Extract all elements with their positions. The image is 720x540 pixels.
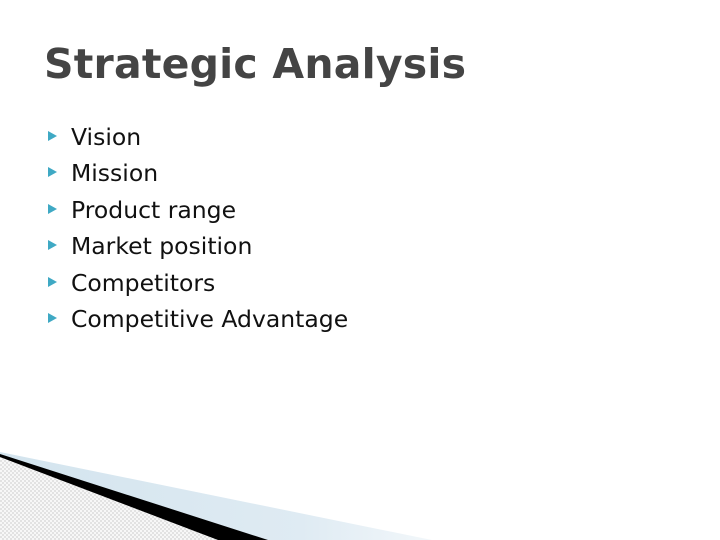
list-item-label: Vision — [71, 122, 648, 153]
list-item-label: Competitive Advantage — [71, 304, 648, 335]
triangle-right-bullet-icon — [48, 304, 71, 323]
list-item-label: Market position — [71, 231, 648, 262]
triangle-right-bullet-icon — [48, 122, 71, 141]
black-sliver — [0, 454, 268, 540]
list-item: Market position — [48, 231, 648, 267]
list-item: Mission — [48, 158, 648, 194]
triangle-right-bullet-icon — [48, 268, 71, 287]
list-item-label: Competitors — [71, 268, 648, 299]
triangle-right-bullet-icon — [48, 195, 71, 214]
page-title: Strategic Analysis — [44, 42, 466, 86]
slide-canvas: Strategic Analysis Vision Mission Produc… — [0, 0, 720, 540]
bullet-list: Vision Mission Product range Market posi… — [48, 122, 648, 340]
list-item: Competitive Advantage — [48, 304, 648, 340]
list-item-label: Product range — [71, 195, 648, 226]
list-item: Product range — [48, 195, 648, 231]
triangle-right-bullet-icon — [48, 231, 71, 250]
list-item-label: Mission — [71, 158, 648, 189]
textured-gray-wedge — [0, 457, 218, 540]
triangle-right-bullet-icon — [48, 158, 71, 177]
list-item: Competitors — [48, 268, 648, 304]
pale-blue-wedge — [0, 452, 432, 540]
list-item: Vision — [48, 122, 648, 158]
